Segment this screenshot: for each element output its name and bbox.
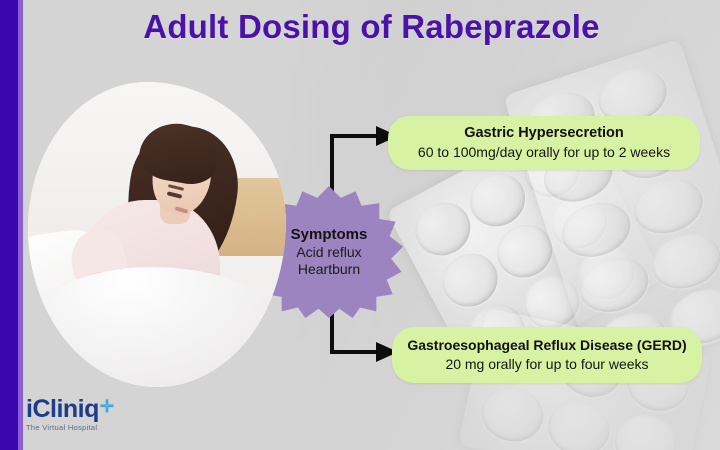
brand-logo: iCliniq ✛ The Virtual Hospital (26, 397, 114, 432)
symptom-item-heartburn: Heartburn (298, 261, 360, 278)
callout-title: Gastric Hypersecretion (464, 124, 624, 144)
logo-wordmark: iCliniq ✛ (26, 397, 114, 422)
page-title: Adult Dosing of Rabeprazole (23, 8, 720, 46)
left-accent-bar-highlight (18, 0, 23, 450)
callout-gerd: Gastroesophageal Reflux Disease (GERD) 2… (392, 327, 702, 383)
callout-title: Gastroesophageal Reflux Disease (GERD) (407, 336, 686, 355)
callout-dose: 20 mg orally for up to four weeks (445, 355, 648, 374)
callout-gastric-hypersecretion: Gastric Hypersecretion 60 to 100mg/day o… (388, 116, 700, 170)
callout-dose: 60 to 100mg/day orally for up to 2 weeks (418, 143, 670, 162)
infographic-canvas: Adult Dosing of Rabeprazole (0, 0, 720, 450)
patient-photo (28, 82, 286, 387)
symptom-item-acid-reflux: Acid reflux (296, 244, 361, 261)
medical-cross-icon: ✛ (100, 398, 114, 415)
logo-name-rest: Cliniq (32, 397, 98, 422)
logo-tagline: The Virtual Hospital (26, 423, 114, 432)
left-accent-bar (0, 0, 18, 450)
symptoms-heading: Symptoms (291, 226, 368, 244)
